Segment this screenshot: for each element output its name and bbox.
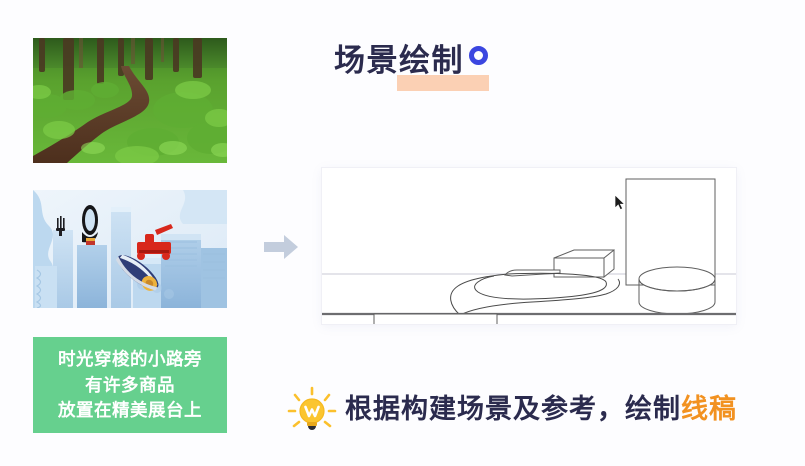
scene-description-box: 时光穿梭的小路旁 有许多商品 放置在精美展台上 <box>33 337 227 433</box>
page-title: 场景绘制 <box>334 41 464 81</box>
right-arrow-glyph <box>262 232 300 262</box>
scene-line-draft-drawing <box>322 168 736 324</box>
title-circle-icon <box>469 46 488 65</box>
green-box-line-2: 有许多商品 <box>85 373 175 398</box>
lightbulb-glyph <box>286 386 338 434</box>
bottom-caption-plain: 根据构建场景及参考， <box>345 394 625 424</box>
lightbulb-base <box>308 426 316 430</box>
lightbulb-icon <box>286 386 338 434</box>
bottom-caption: 根据构建场景及参考，绘制线稿 <box>345 389 737 429</box>
green-box-line-1: 时光穿梭的小路旁 <box>58 347 202 372</box>
box-pedestal <box>554 250 614 277</box>
product-display-photo <box>33 190 227 308</box>
forest-path-image <box>33 38 227 163</box>
product-display-image <box>33 190 227 308</box>
page-title-block: 场景绘制 <box>334 41 464 87</box>
lightbulb-collar <box>307 422 317 426</box>
right-arrow-icon <box>262 232 300 262</box>
green-box-line-3: 放置在精美展台上 <box>58 398 202 423</box>
scene-line-draft-panel[interactable] <box>322 168 736 324</box>
foreground-platform <box>374 314 497 324</box>
bottom-caption-prefix: 绘制 <box>625 394 681 424</box>
forest-path-photo <box>33 38 227 163</box>
bottom-caption-highlight: 线稿 <box>681 394 737 424</box>
